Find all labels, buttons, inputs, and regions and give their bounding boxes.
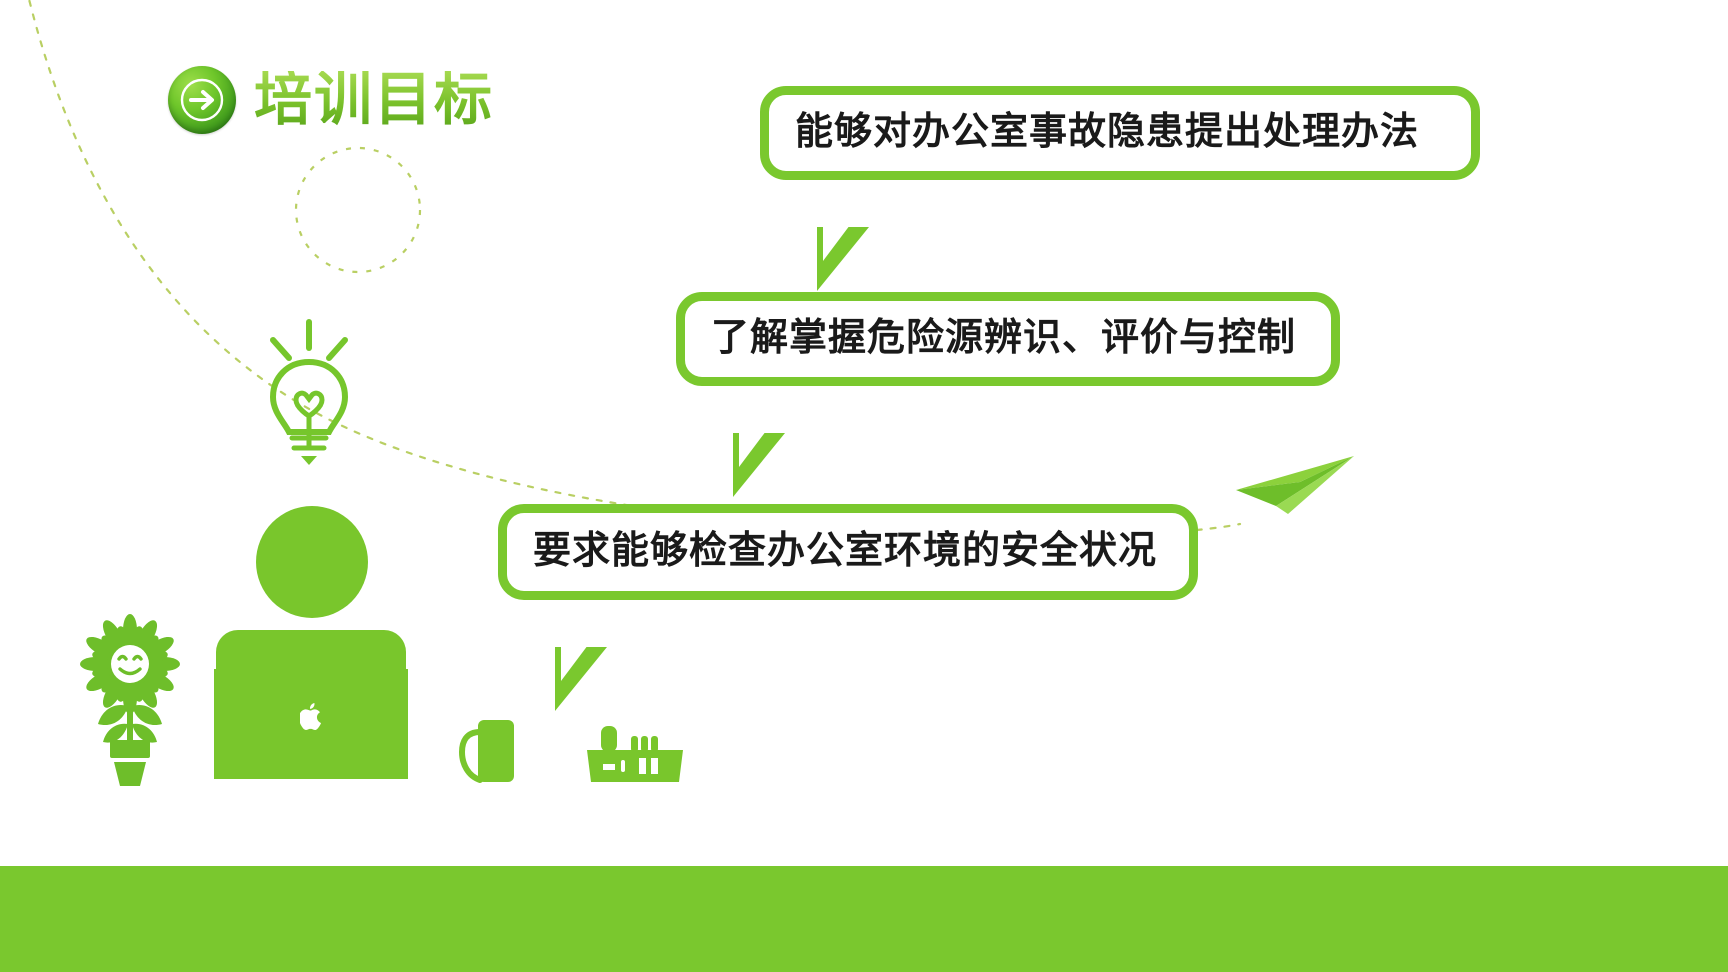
sunflower-in-pot-icon	[74, 614, 186, 786]
coffee-mug-icon	[458, 718, 530, 784]
footer-bar	[0, 866, 1728, 972]
objective-bubble-2-label: 了解掌握危险源辨识、评价与控制	[711, 318, 1296, 360]
slide-canvas: 培训目标 能够对办公室事故隐患提出处理办法 了解掌握危险源辨识、评价与控制 要求…	[0, 0, 1728, 972]
arrow-right-circle-icon	[168, 66, 236, 134]
page-title-label: 培训目标	[254, 71, 494, 129]
objective-bubble-1-label: 能够对办公室事故隐患提出处理办法	[795, 112, 1419, 154]
objective-bubble-3[interactable]: 要求能够检查办公室环境的安全状况	[498, 504, 1198, 600]
page-title: 培训目标	[168, 66, 494, 134]
objective-bubble-3-label: 要求能够检查办公室环境的安全状况	[533, 531, 1157, 573]
objective-bubble-1[interactable]: 能够对办公室事故隐患提出处理办法	[760, 86, 1480, 180]
lightbulb-heart-icon	[256, 318, 362, 468]
person-shoulders-icon	[216, 630, 406, 670]
apple-logo-icon	[300, 703, 322, 731]
paper-plane-icon	[1236, 452, 1356, 516]
desk-pen-holder-icon	[583, 726, 695, 784]
objective-bubble-2[interactable]: 了解掌握危险源辨识、评价与控制	[676, 292, 1340, 386]
person-head-icon	[256, 506, 368, 618]
